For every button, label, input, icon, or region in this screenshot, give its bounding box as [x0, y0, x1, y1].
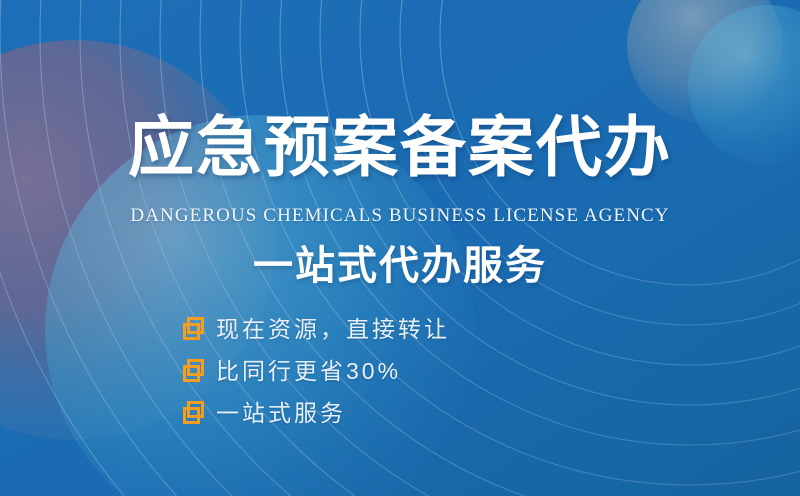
list-item-label: 一站式服务: [216, 399, 346, 427]
list-item-label: 比同行更省30%: [216, 357, 401, 385]
feature-list: 现在资源，直接转让 比同行更省30% 一站式: [182, 314, 450, 428]
overlapping-squares-icon: [182, 359, 206, 383]
list-item: 比同行更省30%: [182, 356, 450, 386]
banner-content: 应急预案备案代办 DANGEROUS CHEMICALS BUSINESS LI…: [0, 0, 800, 496]
overlapping-squares-icon: [182, 317, 206, 341]
overlapping-squares-icon: [182, 401, 206, 425]
list-item: 现在资源，直接转让: [182, 314, 450, 344]
english-subtitle: DANGEROUS CHEMICALS BUSINESS LICENSE AGE…: [0, 204, 800, 228]
service-subtitle: 一站式代办服务: [0, 240, 800, 292]
list-item: 一站式服务: [182, 398, 450, 428]
list-item-label: 现在资源，直接转让: [216, 315, 450, 343]
page-title: 应急预案备案代办: [0, 108, 800, 186]
promo-banner: 应急预案备案代办 DANGEROUS CHEMICALS BUSINESS LI…: [0, 0, 800, 496]
